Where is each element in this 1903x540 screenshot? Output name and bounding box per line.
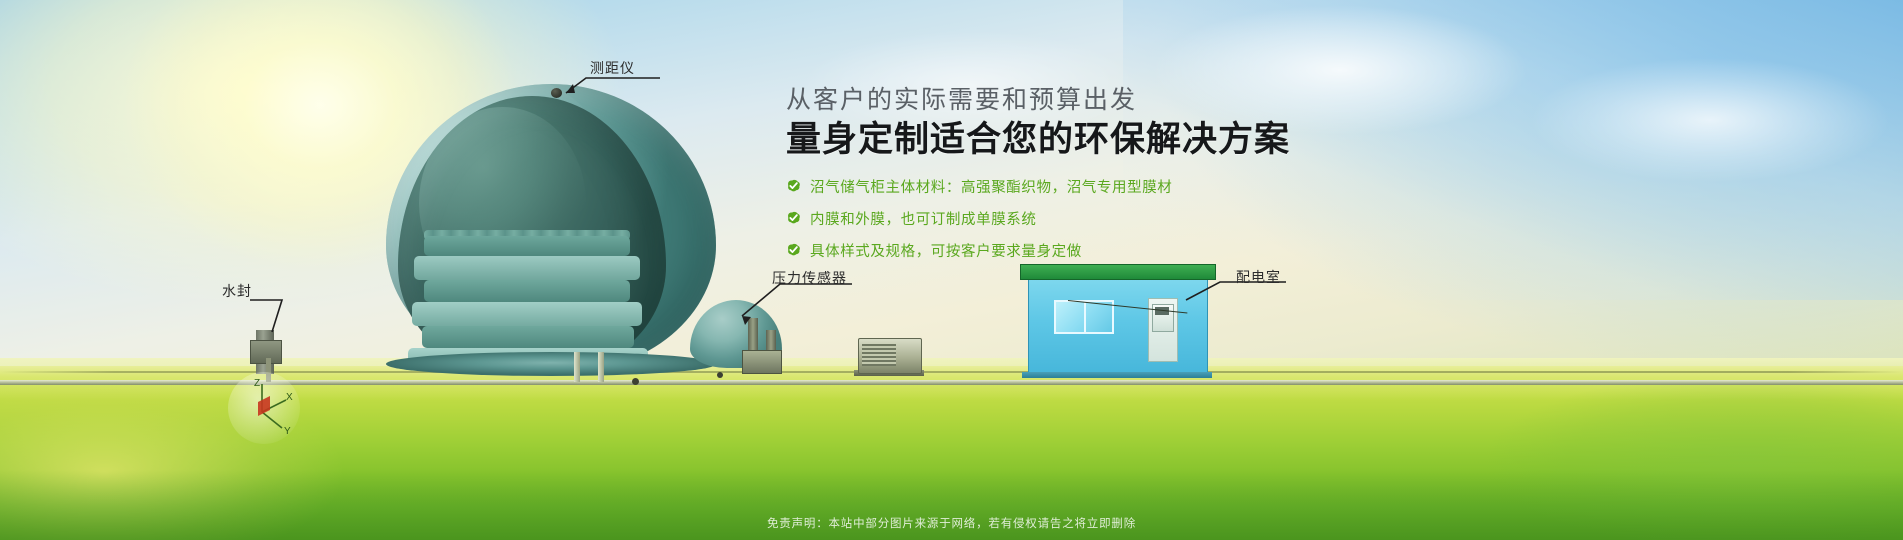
building-base: [1022, 372, 1212, 378]
valve-node: [632, 378, 639, 385]
dome-base-rim: [386, 352, 716, 376]
valve-node: [717, 372, 723, 378]
pressure-sensor-housing: [742, 350, 782, 374]
feature-bullet-list: 沼气储气柜主体材料：高强聚酯织物，沼气专用型膜材 内膜和外膜，也可订制成单膜系统: [786, 176, 1486, 261]
list-item: 沼气储气柜主体材料：高强聚酯织物，沼气专用型膜材: [786, 176, 1486, 197]
kicker-text: 从客户的实际需要和预算出发: [786, 84, 1486, 115]
axis-label-x: X: [286, 392, 293, 403]
marketing-copy-block: 从客户的实际需要和预算出发 量身定制适合您的环保解决方案 沼气储气柜主体材料：高…: [786, 84, 1486, 272]
bullet-label: 具体样式及规格，可按客户要求量身定做: [810, 240, 1082, 261]
label-waterseal: 水封: [222, 281, 252, 301]
check-badge-icon: [786, 211, 801, 226]
membrane-terrace: [414, 256, 640, 280]
building-window: [1054, 300, 1114, 334]
bullet-label: 沼气储气柜主体材料：高强聚酯织物，沼气专用型膜材: [810, 176, 1172, 197]
axis-label-z: Z: [254, 378, 260, 389]
label-rangefinder: 测距仪: [590, 58, 635, 78]
list-item: 具体样式及规格，可按客户要求量身定做: [786, 240, 1486, 261]
banner-stage: 测距仪 水封 压力传感器 配电室 Z X Y 从客户的实际需要和预算出发 量身定…: [0, 0, 1903, 540]
pipe-riser: [598, 352, 604, 382]
membrane-terrace: [422, 326, 634, 348]
headline-text: 量身定制适合您的环保解决方案: [786, 119, 1486, 162]
bullet-label: 内膜和外膜，也可订制成单膜系统: [810, 208, 1037, 229]
axis-label-y: Y: [284, 426, 291, 437]
check-badge-icon: [786, 243, 801, 258]
cloud-right: [1480, 30, 1903, 210]
check-badge-icon: [786, 179, 801, 194]
pipe-riser: [574, 352, 580, 382]
rangefinder-device: [551, 88, 562, 98]
membrane-terrace: [424, 236, 630, 256]
blower-grill: [862, 344, 896, 366]
membrane-terrace: [424, 280, 630, 302]
axis-orientation-gizmo: Z X Y: [228, 372, 300, 444]
disclaimer-text: 免责声明：本站中部分图片来源于网络，若有侵权请告之将立即删除: [0, 515, 1903, 531]
membrane-terrace: [412, 302, 642, 326]
list-item: 内膜和外膜，也可订制成单膜系统: [786, 208, 1486, 229]
